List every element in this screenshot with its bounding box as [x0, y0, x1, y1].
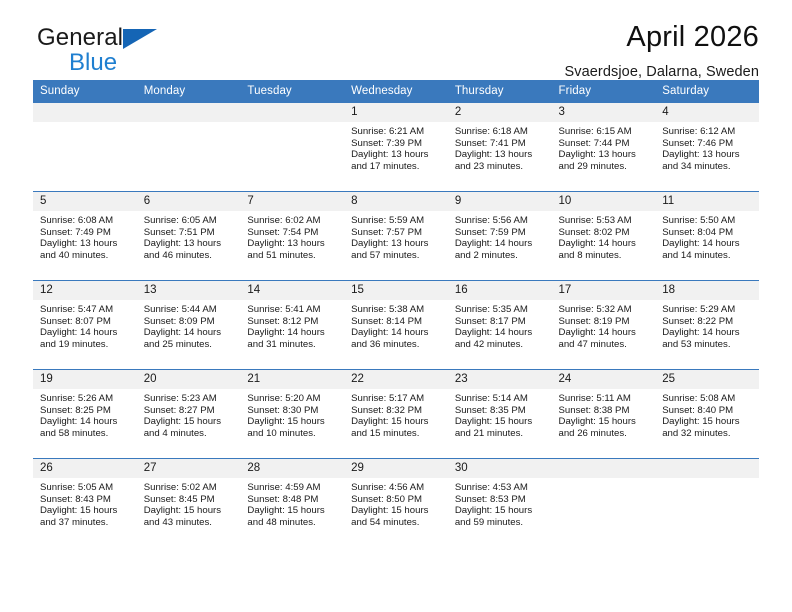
day-cell-inner: 28Sunrise: 4:59 AMSunset: 8:48 PMDayligh…	[240, 459, 344, 547]
sun-info: Sunrise: 5:38 AMSunset: 8:14 PMDaylight:…	[344, 300, 448, 350]
day-cell-inner: 1Sunrise: 6:21 AMSunset: 7:39 PMDaylight…	[344, 103, 448, 191]
sunrise-text: Sunrise: 4:53 AM	[455, 482, 546, 494]
calendar-day-cell[interactable]: 19Sunrise: 5:26 AMSunset: 8:25 PMDayligh…	[33, 370, 137, 459]
day-cell-inner: 23Sunrise: 5:14 AMSunset: 8:35 PMDayligh…	[448, 370, 552, 458]
daylight-text-line1: Daylight: 14 hours	[247, 327, 338, 339]
sun-info: Sunrise: 6:15 AMSunset: 7:44 PMDaylight:…	[552, 122, 656, 172]
sunrise-text: Sunrise: 6:12 AM	[662, 126, 753, 138]
day-number: 19	[33, 370, 137, 389]
sunrise-text: Sunrise: 6:21 AM	[351, 126, 442, 138]
calendar-day-cell[interactable]: 8Sunrise: 5:59 AMSunset: 7:57 PMDaylight…	[344, 192, 448, 281]
sunset-text: Sunset: 8:50 PM	[351, 494, 442, 506]
sunset-text: Sunset: 8:02 PM	[559, 227, 650, 239]
calendar-day-cell[interactable]: 17Sunrise: 5:32 AMSunset: 8:19 PMDayligh…	[552, 281, 656, 370]
day-number: 13	[137, 281, 241, 300]
calendar-day-cell[interactable]: 4Sunrise: 6:12 AMSunset: 7:46 PMDaylight…	[655, 103, 759, 192]
sunrise-text: Sunrise: 6:02 AM	[247, 215, 338, 227]
daylight-text-line2: and 58 minutes.	[40, 428, 131, 440]
sunset-text: Sunset: 8:38 PM	[559, 405, 650, 417]
calendar-body: 1Sunrise: 6:21 AMSunset: 7:39 PMDaylight…	[33, 103, 759, 547]
sun-info: Sunrise: 5:47 AMSunset: 8:07 PMDaylight:…	[33, 300, 137, 350]
sun-info: Sunrise: 5:23 AMSunset: 8:27 PMDaylight:…	[137, 389, 241, 439]
sun-info: Sunrise: 4:53 AMSunset: 8:53 PMDaylight:…	[448, 478, 552, 528]
day-cell-inner: 17Sunrise: 5:32 AMSunset: 8:19 PMDayligh…	[552, 281, 656, 369]
daylight-text-line1: Daylight: 13 hours	[559, 149, 650, 161]
day-number: 23	[448, 370, 552, 389]
weekday-header-row: Sunday Monday Tuesday Wednesday Thursday…	[33, 80, 759, 103]
sunrise-text: Sunrise: 5:20 AM	[247, 393, 338, 405]
daylight-text-line1: Daylight: 14 hours	[40, 327, 131, 339]
daylight-text-line1: Daylight: 15 hours	[247, 505, 338, 517]
daylight-text-line1: Daylight: 15 hours	[144, 505, 235, 517]
title-block: April 2026 Svaerdsjoe, Dalarna, Sweden	[564, 22, 759, 80]
sunrise-sunset-calendar: Sunday Monday Tuesday Wednesday Thursday…	[33, 80, 759, 547]
sun-info: Sunrise: 6:05 AMSunset: 7:51 PMDaylight:…	[137, 211, 241, 261]
daylight-text-line1: Daylight: 13 hours	[662, 149, 753, 161]
calendar-cell-empty	[240, 103, 344, 192]
calendar-day-cell[interactable]: 23Sunrise: 5:14 AMSunset: 8:35 PMDayligh…	[448, 370, 552, 459]
daylight-text-line1: Daylight: 14 hours	[351, 327, 442, 339]
day-number: 11	[655, 192, 759, 211]
day-number: 4	[655, 103, 759, 122]
daylight-text-line2: and 42 minutes.	[455, 339, 546, 351]
sun-info: Sunrise: 6:21 AMSunset: 7:39 PMDaylight:…	[344, 122, 448, 172]
sunrise-text: Sunrise: 4:59 AM	[247, 482, 338, 494]
daylight-text-line2: and 26 minutes.	[559, 428, 650, 440]
calendar-day-cell[interactable]: 3Sunrise: 6:15 AMSunset: 7:44 PMDaylight…	[552, 103, 656, 192]
sunrise-text: Sunrise: 5:32 AM	[559, 304, 650, 316]
sunrise-text: Sunrise: 5:14 AM	[455, 393, 546, 405]
day-cell-inner: 7Sunrise: 6:02 AMSunset: 7:54 PMDaylight…	[240, 192, 344, 280]
daylight-text-line1: Daylight: 15 hours	[351, 505, 442, 517]
sunrise-text: Sunrise: 5:26 AM	[40, 393, 131, 405]
calendar-week-row: 5Sunrise: 6:08 AMSunset: 7:49 PMDaylight…	[33, 192, 759, 281]
calendar-day-cell[interactable]: 30Sunrise: 4:53 AMSunset: 8:53 PMDayligh…	[448, 459, 552, 548]
day-number: 12	[33, 281, 137, 300]
sun-info: Sunrise: 6:18 AMSunset: 7:41 PMDaylight:…	[448, 122, 552, 172]
daylight-text-line2: and 46 minutes.	[144, 250, 235, 262]
sunrise-text: Sunrise: 5:23 AM	[144, 393, 235, 405]
day-number: 17	[552, 281, 656, 300]
calendar-day-cell[interactable]: 10Sunrise: 5:53 AMSunset: 8:02 PMDayligh…	[552, 192, 656, 281]
sunset-text: Sunset: 7:51 PM	[144, 227, 235, 239]
day-cell-inner: 20Sunrise: 5:23 AMSunset: 8:27 PMDayligh…	[137, 370, 241, 458]
sunset-text: Sunset: 8:17 PM	[455, 316, 546, 328]
day-number	[240, 103, 344, 122]
sun-info: Sunrise: 6:02 AMSunset: 7:54 PMDaylight:…	[240, 211, 344, 261]
sunset-text: Sunset: 8:19 PM	[559, 316, 650, 328]
day-cell-inner: 2Sunrise: 6:18 AMSunset: 7:41 PMDaylight…	[448, 103, 552, 191]
sunrise-text: Sunrise: 6:08 AM	[40, 215, 131, 227]
day-cell-inner: 3Sunrise: 6:15 AMSunset: 7:44 PMDaylight…	[552, 103, 656, 191]
daylight-text-line1: Daylight: 13 hours	[455, 149, 546, 161]
sun-info: Sunrise: 6:08 AMSunset: 7:49 PMDaylight:…	[33, 211, 137, 261]
daylight-text-line1: Daylight: 15 hours	[455, 416, 546, 428]
day-cell-inner: 14Sunrise: 5:41 AMSunset: 8:12 PMDayligh…	[240, 281, 344, 369]
sun-info: Sunrise: 5:20 AMSunset: 8:30 PMDaylight:…	[240, 389, 344, 439]
sunset-text: Sunset: 7:39 PM	[351, 138, 442, 150]
sunset-text: Sunset: 8:40 PM	[662, 405, 753, 417]
weekday-header-sunday: Sunday	[33, 80, 137, 103]
sunset-text: Sunset: 7:44 PM	[559, 138, 650, 150]
day-number: 7	[240, 192, 344, 211]
daylight-text-line2: and 14 minutes.	[662, 250, 753, 262]
day-cell-inner: 18Sunrise: 5:29 AMSunset: 8:22 PMDayligh…	[655, 281, 759, 369]
day-number	[655, 459, 759, 478]
calendar-cell-empty	[552, 459, 656, 548]
day-cell-inner: 15Sunrise: 5:38 AMSunset: 8:14 PMDayligh…	[344, 281, 448, 369]
sunset-text: Sunset: 8:12 PM	[247, 316, 338, 328]
sunrise-text: Sunrise: 5:02 AM	[144, 482, 235, 494]
page-header: General Blue April 2026 Svaerdsjoe, Dala…	[33, 0, 759, 80]
day-cell-inner: 10Sunrise: 5:53 AMSunset: 8:02 PMDayligh…	[552, 192, 656, 280]
day-number: 29	[344, 459, 448, 478]
day-number: 9	[448, 192, 552, 211]
day-cell-inner: 19Sunrise: 5:26 AMSunset: 8:25 PMDayligh…	[33, 370, 137, 458]
calendar-day-cell[interactable]: 1Sunrise: 6:21 AMSunset: 7:39 PMDaylight…	[344, 103, 448, 192]
weekday-header-wednesday: Wednesday	[344, 80, 448, 103]
sun-info: Sunrise: 5:50 AMSunset: 8:04 PMDaylight:…	[655, 211, 759, 261]
calendar-cell-empty	[137, 103, 241, 192]
sun-info: Sunrise: 5:26 AMSunset: 8:25 PMDaylight:…	[33, 389, 137, 439]
day-number: 20	[137, 370, 241, 389]
sunset-text: Sunset: 8:04 PM	[662, 227, 753, 239]
weekday-header-tuesday: Tuesday	[240, 80, 344, 103]
sunset-text: Sunset: 8:35 PM	[455, 405, 546, 417]
day-number: 30	[448, 459, 552, 478]
daylight-text-line1: Daylight: 15 hours	[455, 505, 546, 517]
sunrise-text: Sunrise: 5:35 AM	[455, 304, 546, 316]
daylight-text-line1: Daylight: 14 hours	[559, 327, 650, 339]
weekday-header-monday: Monday	[137, 80, 241, 103]
sunrise-text: Sunrise: 5:08 AM	[662, 393, 753, 405]
daylight-text-line2: and 15 minutes.	[351, 428, 442, 440]
calendar-day-cell[interactable]: 6Sunrise: 6:05 AMSunset: 7:51 PMDaylight…	[137, 192, 241, 281]
calendar-week-row: 12Sunrise: 5:47 AMSunset: 8:07 PMDayligh…	[33, 281, 759, 370]
sunset-text: Sunset: 7:54 PM	[247, 227, 338, 239]
sunset-text: Sunset: 7:49 PM	[40, 227, 131, 239]
daylight-text-line2: and 32 minutes.	[662, 428, 753, 440]
day-number: 21	[240, 370, 344, 389]
sunrise-text: Sunrise: 5:56 AM	[455, 215, 546, 227]
day-cell-inner: 13Sunrise: 5:44 AMSunset: 8:09 PMDayligh…	[137, 281, 241, 369]
day-cell-inner: 16Sunrise: 5:35 AMSunset: 8:17 PMDayligh…	[448, 281, 552, 369]
sunrise-text: Sunrise: 5:29 AM	[662, 304, 753, 316]
day-number: 22	[344, 370, 448, 389]
sunrise-text: Sunrise: 5:47 AM	[40, 304, 131, 316]
daylight-text-line1: Daylight: 14 hours	[662, 238, 753, 250]
daylight-text-line2: and 43 minutes.	[144, 517, 235, 529]
general-blue-logo[interactable]: General Blue	[37, 26, 157, 75]
calendar-day-cell[interactable]: 2Sunrise: 6:18 AMSunset: 7:41 PMDaylight…	[448, 103, 552, 192]
daylight-text-line1: Daylight: 14 hours	[559, 238, 650, 250]
sunset-text: Sunset: 7:41 PM	[455, 138, 546, 150]
day-number: 26	[33, 459, 137, 478]
daylight-text-line2: and 4 minutes.	[144, 428, 235, 440]
calendar-week-row: 19Sunrise: 5:26 AMSunset: 8:25 PMDayligh…	[33, 370, 759, 459]
daylight-text-line1: Daylight: 15 hours	[351, 416, 442, 428]
daylight-text-line2: and 36 minutes.	[351, 339, 442, 351]
daylight-text-line2: and 51 minutes.	[247, 250, 338, 262]
daylight-text-line1: Daylight: 14 hours	[144, 327, 235, 339]
daylight-text-line2: and 57 minutes.	[351, 250, 442, 262]
calendar-cell-empty	[655, 459, 759, 548]
sunset-text: Sunset: 8:07 PM	[40, 316, 131, 328]
sunrise-text: Sunrise: 6:05 AM	[144, 215, 235, 227]
sunrise-text: Sunrise: 5:05 AM	[40, 482, 131, 494]
logo-text-general: General	[37, 26, 157, 50]
daylight-text-line2: and 54 minutes.	[351, 517, 442, 529]
sunset-text: Sunset: 8:30 PM	[247, 405, 338, 417]
sun-info: Sunrise: 6:12 AMSunset: 7:46 PMDaylight:…	[655, 122, 759, 172]
weekday-header-friday: Friday	[552, 80, 656, 103]
sunset-text: Sunset: 8:43 PM	[40, 494, 131, 506]
calendar-day-cell[interactable]: 9Sunrise: 5:56 AMSunset: 7:59 PMDaylight…	[448, 192, 552, 281]
day-cell-inner: 12Sunrise: 5:47 AMSunset: 8:07 PMDayligh…	[33, 281, 137, 369]
day-cell-inner: 25Sunrise: 5:08 AMSunset: 8:40 PMDayligh…	[655, 370, 759, 458]
daylight-text-line2: and 25 minutes.	[144, 339, 235, 351]
daylight-text-line2: and 34 minutes.	[662, 161, 753, 173]
day-number	[33, 103, 137, 122]
calendar-day-cell[interactable]: 13Sunrise: 5:44 AMSunset: 8:09 PMDayligh…	[137, 281, 241, 370]
sunset-text: Sunset: 8:22 PM	[662, 316, 753, 328]
daylight-text-line2: and 48 minutes.	[247, 517, 338, 529]
sunset-text: Sunset: 8:25 PM	[40, 405, 131, 417]
sunset-text: Sunset: 8:14 PM	[351, 316, 442, 328]
daylight-text-line2: and 2 minutes.	[455, 250, 546, 262]
sun-info: Sunrise: 5:35 AMSunset: 8:17 PMDaylight:…	[448, 300, 552, 350]
daylight-text-line1: Daylight: 13 hours	[144, 238, 235, 250]
sunset-text: Sunset: 8:45 PM	[144, 494, 235, 506]
day-cell-inner	[137, 103, 241, 191]
daylight-text-line1: Daylight: 14 hours	[40, 416, 131, 428]
page-subtitle: Svaerdsjoe, Dalarna, Sweden	[564, 64, 759, 80]
sunrise-text: Sunrise: 6:15 AM	[559, 126, 650, 138]
daylight-text-line2: and 21 minutes.	[455, 428, 546, 440]
day-number: 3	[552, 103, 656, 122]
sunrise-text: Sunrise: 5:53 AM	[559, 215, 650, 227]
calendar-cell-empty	[33, 103, 137, 192]
daylight-text-line1: Daylight: 14 hours	[455, 238, 546, 250]
calendar-day-cell[interactable]: 22Sunrise: 5:17 AMSunset: 8:32 PMDayligh…	[344, 370, 448, 459]
sun-info: Sunrise: 5:59 AMSunset: 7:57 PMDaylight:…	[344, 211, 448, 261]
daylight-text-line2: and 10 minutes.	[247, 428, 338, 440]
calendar-day-cell[interactable]: 26Sunrise: 5:05 AMSunset: 8:43 PMDayligh…	[33, 459, 137, 548]
flag-triangle-icon	[123, 29, 157, 49]
daylight-text-line2: and 17 minutes.	[351, 161, 442, 173]
day-number: 6	[137, 192, 241, 211]
calendar-day-cell[interactable]: 5Sunrise: 6:08 AMSunset: 7:49 PMDaylight…	[33, 192, 137, 281]
day-cell-inner: 11Sunrise: 5:50 AMSunset: 8:04 PMDayligh…	[655, 192, 759, 280]
day-cell-inner	[552, 459, 656, 547]
sunrise-text: Sunrise: 4:56 AM	[351, 482, 442, 494]
sun-info: Sunrise: 5:05 AMSunset: 8:43 PMDaylight:…	[33, 478, 137, 528]
daylight-text-line2: and 53 minutes.	[662, 339, 753, 351]
calendar-day-cell[interactable]: 14Sunrise: 5:41 AMSunset: 8:12 PMDayligh…	[240, 281, 344, 370]
daylight-text-line2: and 59 minutes.	[455, 517, 546, 529]
calendar-day-cell[interactable]: 11Sunrise: 5:50 AMSunset: 8:04 PMDayligh…	[655, 192, 759, 281]
daylight-text-line1: Daylight: 13 hours	[351, 149, 442, 161]
sun-info: Sunrise: 5:11 AMSunset: 8:38 PMDaylight:…	[552, 389, 656, 439]
day-cell-inner: 30Sunrise: 4:53 AMSunset: 8:53 PMDayligh…	[448, 459, 552, 547]
sun-info: Sunrise: 5:17 AMSunset: 8:32 PMDaylight:…	[344, 389, 448, 439]
calendar-day-cell[interactable]: 25Sunrise: 5:08 AMSunset: 8:40 PMDayligh…	[655, 370, 759, 459]
sunrise-text: Sunrise: 5:44 AM	[144, 304, 235, 316]
day-cell-inner: 6Sunrise: 6:05 AMSunset: 7:51 PMDaylight…	[137, 192, 241, 280]
day-cell-inner: 5Sunrise: 6:08 AMSunset: 7:49 PMDaylight…	[33, 192, 137, 280]
sunrise-text: Sunrise: 5:59 AM	[351, 215, 442, 227]
sun-info: Sunrise: 5:41 AMSunset: 8:12 PMDaylight:…	[240, 300, 344, 350]
calendar-day-cell[interactable]: 20Sunrise: 5:23 AMSunset: 8:27 PMDayligh…	[137, 370, 241, 459]
daylight-text-line2: and 29 minutes.	[559, 161, 650, 173]
day-number: 2	[448, 103, 552, 122]
page-title: April 2026	[564, 22, 759, 54]
sun-info: Sunrise: 5:14 AMSunset: 8:35 PMDaylight:…	[448, 389, 552, 439]
daylight-text-line2: and 47 minutes.	[559, 339, 650, 351]
weekday-header-thursday: Thursday	[448, 80, 552, 103]
sunrise-text: Sunrise: 5:50 AM	[662, 215, 753, 227]
sun-info: Sunrise: 5:53 AMSunset: 8:02 PMDaylight:…	[552, 211, 656, 261]
day-cell-inner	[655, 459, 759, 547]
day-number: 18	[655, 281, 759, 300]
calendar-day-cell[interactable]: 24Sunrise: 5:11 AMSunset: 8:38 PMDayligh…	[552, 370, 656, 459]
sun-info: Sunrise: 4:59 AMSunset: 8:48 PMDaylight:…	[240, 478, 344, 528]
day-cell-inner: 8Sunrise: 5:59 AMSunset: 7:57 PMDaylight…	[344, 192, 448, 280]
day-cell-inner: 9Sunrise: 5:56 AMSunset: 7:59 PMDaylight…	[448, 192, 552, 280]
calendar-week-row: 1Sunrise: 6:21 AMSunset: 7:39 PMDaylight…	[33, 103, 759, 192]
calendar-day-cell[interactable]: 15Sunrise: 5:38 AMSunset: 8:14 PMDayligh…	[344, 281, 448, 370]
daylight-text-line2: and 40 minutes.	[40, 250, 131, 262]
day-cell-inner: 27Sunrise: 5:02 AMSunset: 8:45 PMDayligh…	[137, 459, 241, 547]
daylight-text-line1: Daylight: 15 hours	[40, 505, 131, 517]
sunrise-text: Sunrise: 6:18 AM	[455, 126, 546, 138]
daylight-text-line2: and 37 minutes.	[40, 517, 131, 529]
day-number: 5	[33, 192, 137, 211]
sunset-text: Sunset: 8:32 PM	[351, 405, 442, 417]
day-cell-inner: 26Sunrise: 5:05 AMSunset: 8:43 PMDayligh…	[33, 459, 137, 547]
day-number: 14	[240, 281, 344, 300]
day-cell-inner: 21Sunrise: 5:20 AMSunset: 8:30 PMDayligh…	[240, 370, 344, 458]
day-number: 24	[552, 370, 656, 389]
daylight-text-line1: Daylight: 15 hours	[559, 416, 650, 428]
sunset-text: Sunset: 7:59 PM	[455, 227, 546, 239]
day-number: 27	[137, 459, 241, 478]
day-cell-inner: 24Sunrise: 5:11 AMSunset: 8:38 PMDayligh…	[552, 370, 656, 458]
calendar-header-row: Sunday Monday Tuesday Wednesday Thursday…	[33, 80, 759, 103]
daylight-text-line2: and 31 minutes.	[247, 339, 338, 351]
daylight-text-line2: and 19 minutes.	[40, 339, 131, 351]
calendar-day-cell[interactable]: 16Sunrise: 5:35 AMSunset: 8:17 PMDayligh…	[448, 281, 552, 370]
daylight-text-line1: Daylight: 14 hours	[662, 327, 753, 339]
day-number: 15	[344, 281, 448, 300]
daylight-text-line2: and 23 minutes.	[455, 161, 546, 173]
daylight-text-line1: Daylight: 15 hours	[662, 416, 753, 428]
sunset-text: Sunset: 8:53 PM	[455, 494, 546, 506]
day-number: 8	[344, 192, 448, 211]
day-number: 1	[344, 103, 448, 122]
daylight-text-line2: and 8 minutes.	[559, 250, 650, 262]
sun-info: Sunrise: 5:29 AMSunset: 8:22 PMDaylight:…	[655, 300, 759, 350]
day-cell-inner: 4Sunrise: 6:12 AMSunset: 7:46 PMDaylight…	[655, 103, 759, 191]
sunrise-text: Sunrise: 5:38 AM	[351, 304, 442, 316]
calendar-week-row: 26Sunrise: 5:05 AMSunset: 8:43 PMDayligh…	[33, 459, 759, 548]
sunrise-text: Sunrise: 5:17 AM	[351, 393, 442, 405]
logo-text-blue: Blue	[69, 51, 157, 75]
day-number: 28	[240, 459, 344, 478]
daylight-text-line1: Daylight: 13 hours	[351, 238, 442, 250]
daylight-text-line1: Daylight: 13 hours	[247, 238, 338, 250]
day-cell-inner	[240, 103, 344, 191]
sunset-text: Sunset: 8:48 PM	[247, 494, 338, 506]
sun-info: Sunrise: 5:56 AMSunset: 7:59 PMDaylight:…	[448, 211, 552, 261]
sunset-text: Sunset: 8:09 PM	[144, 316, 235, 328]
calendar-day-cell[interactable]: 21Sunrise: 5:20 AMSunset: 8:30 PMDayligh…	[240, 370, 344, 459]
day-number	[137, 103, 241, 122]
daylight-text-line1: Daylight: 13 hours	[40, 238, 131, 250]
calendar-day-cell[interactable]: 29Sunrise: 4:56 AMSunset: 8:50 PMDayligh…	[344, 459, 448, 548]
day-number	[552, 459, 656, 478]
daylight-text-line1: Daylight: 14 hours	[455, 327, 546, 339]
calendar-day-cell[interactable]: 7Sunrise: 6:02 AMSunset: 7:54 PMDaylight…	[240, 192, 344, 281]
day-cell-inner: 22Sunrise: 5:17 AMSunset: 8:32 PMDayligh…	[344, 370, 448, 458]
day-cell-inner: 29Sunrise: 4:56 AMSunset: 8:50 PMDayligh…	[344, 459, 448, 547]
day-number: 16	[448, 281, 552, 300]
calendar-day-cell[interactable]: 12Sunrise: 5:47 AMSunset: 8:07 PMDayligh…	[33, 281, 137, 370]
daylight-text-line1: Daylight: 15 hours	[144, 416, 235, 428]
sun-info: Sunrise: 5:32 AMSunset: 8:19 PMDaylight:…	[552, 300, 656, 350]
sun-info: Sunrise: 5:02 AMSunset: 8:45 PMDaylight:…	[137, 478, 241, 528]
sun-info: Sunrise: 5:08 AMSunset: 8:40 PMDaylight:…	[655, 389, 759, 439]
sunset-text: Sunset: 7:57 PM	[351, 227, 442, 239]
day-number: 10	[552, 192, 656, 211]
sun-info: Sunrise: 5:44 AMSunset: 8:09 PMDaylight:…	[137, 300, 241, 350]
calendar-day-cell[interactable]: 28Sunrise: 4:59 AMSunset: 8:48 PMDayligh…	[240, 459, 344, 548]
calendar-page: General Blue April 2026 Svaerdsjoe, Dala…	[0, 0, 792, 612]
calendar-day-cell[interactable]: 18Sunrise: 5:29 AMSunset: 8:22 PMDayligh…	[655, 281, 759, 370]
sunset-text: Sunset: 7:46 PM	[662, 138, 753, 150]
day-number: 25	[655, 370, 759, 389]
day-cell-inner	[33, 103, 137, 191]
calendar-day-cell[interactable]: 27Sunrise: 5:02 AMSunset: 8:45 PMDayligh…	[137, 459, 241, 548]
weekday-header-saturday: Saturday	[655, 80, 759, 103]
daylight-text-line1: Daylight: 15 hours	[247, 416, 338, 428]
sunrise-text: Sunrise: 5:41 AM	[247, 304, 338, 316]
sun-info: Sunrise: 4:56 AMSunset: 8:50 PMDaylight:…	[344, 478, 448, 528]
sunset-text: Sunset: 8:27 PM	[144, 405, 235, 417]
sunrise-text: Sunrise: 5:11 AM	[559, 393, 650, 405]
